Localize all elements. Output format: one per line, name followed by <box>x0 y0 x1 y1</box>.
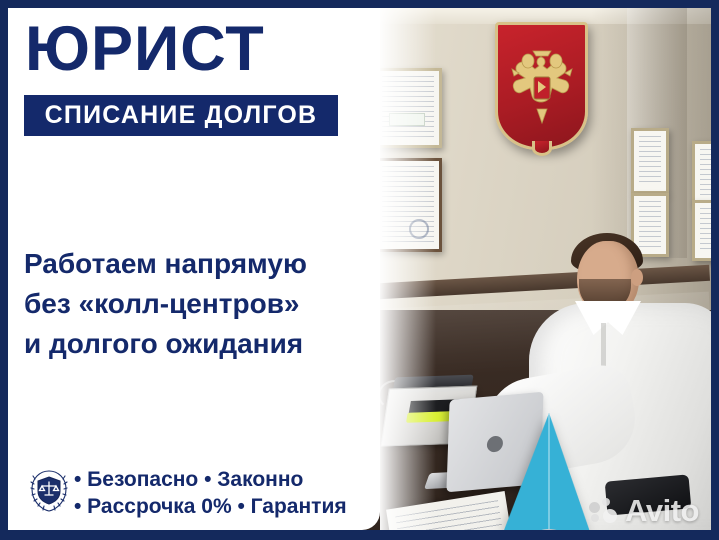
avito-watermark: Avito <box>589 495 699 526</box>
headline-block: Работаем напрямую без «колл-центров» и д… <box>24 244 307 363</box>
subtitle-text: СПИСАНИЕ ДОЛГОВ <box>45 101 318 130</box>
ear <box>631 269 643 286</box>
page-title: ЮРИСТ <box>25 18 265 81</box>
avito-wordmark: Avito <box>625 495 699 526</box>
advertisement-card: ЮРИСТ СПИСАНИЕ ДОЛГОВ Работаем напрямую … <box>0 0 719 540</box>
russian-coat-of-arms <box>495 22 588 150</box>
laptop-logo <box>487 435 504 452</box>
certificate-frame <box>374 68 442 148</box>
benefit-line-1: • Безопасно • Законно <box>74 467 347 494</box>
certificate-frame <box>631 128 669 194</box>
headline-line-1: Работаем напрямую <box>24 244 307 284</box>
headline-line-2: без «колл-центров» <box>24 284 307 324</box>
scales-of-justice-shield-emblem <box>26 468 72 514</box>
certificate-frame <box>374 158 442 252</box>
yellow-highlighter <box>406 411 452 423</box>
avito-logo-icon <box>589 498 619 524</box>
benefits-list: • Безопасно • Законно • Рассрочка 0% • Г… <box>74 467 347 521</box>
subtitle-banner: СПИСАНИЕ ДОЛГОВ <box>24 95 338 136</box>
double-headed-eagle-icon <box>505 43 579 129</box>
certificate-frame <box>692 141 711 204</box>
headline-line-3: и долгого ожидания <box>24 324 307 364</box>
benefit-line-2: • Рассрочка 0% • Гарантия <box>74 494 347 521</box>
flag-fold <box>548 414 550 530</box>
